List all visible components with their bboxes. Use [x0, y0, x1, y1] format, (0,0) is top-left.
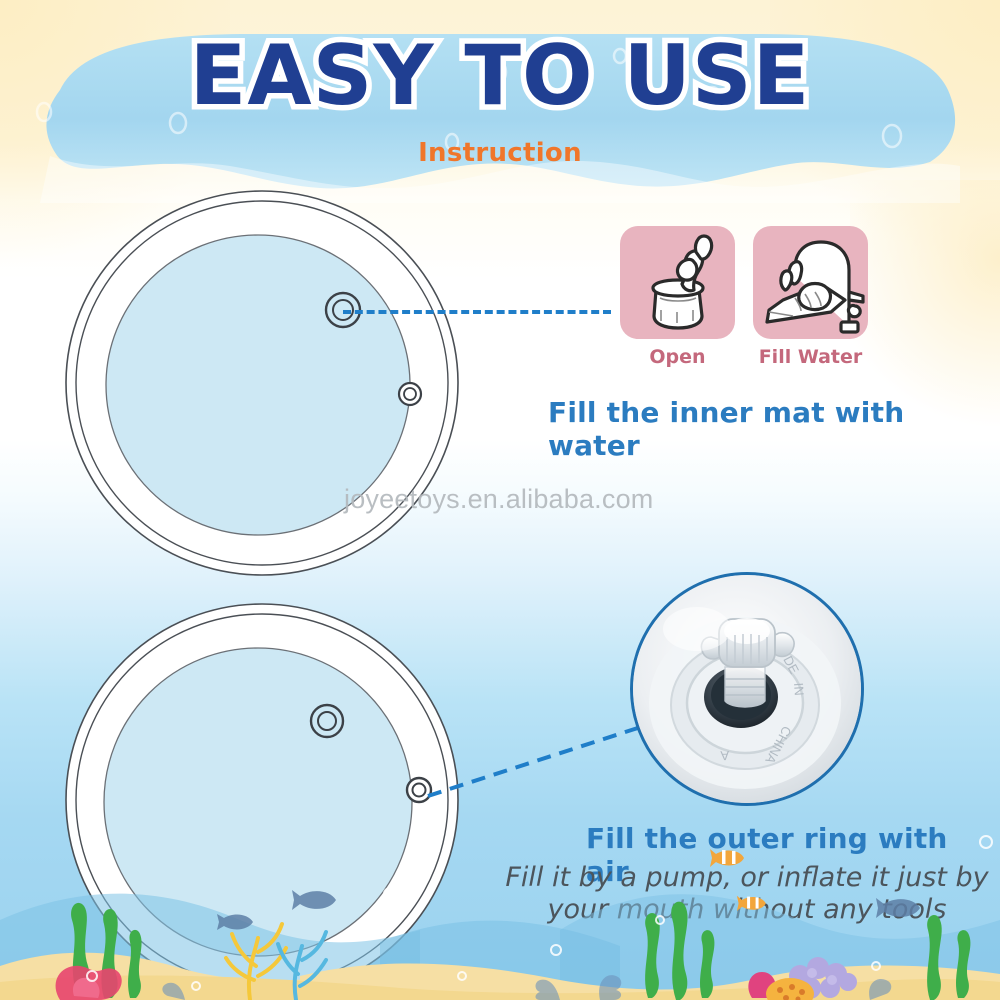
step-icon-cards: Open	[620, 226, 868, 368]
water-valve-marker	[311, 705, 343, 737]
infographic-canvas: EASY TO USE Instruction	[0, 0, 1000, 1000]
svg-text:IN: IN	[791, 682, 807, 696]
caption-fill-water: Fill the inner mat with water	[548, 396, 1000, 462]
seabed-scene	[0, 770, 1000, 1000]
card-open[interactable]: Open	[620, 226, 735, 368]
card-fill-water[interactable]: Fill Water	[753, 226, 868, 368]
connector-line-water	[343, 310, 611, 314]
svg-text:A: A	[720, 748, 730, 763]
wave-banner	[0, 28, 1000, 203]
air-valve-marker	[399, 383, 421, 405]
fish	[217, 890, 920, 930]
card-fill-water-label: Fill Water	[753, 346, 868, 368]
page-subtitle: Instruction	[0, 138, 1000, 168]
card-open-label: Open	[620, 346, 735, 368]
product-illustration-top	[62, 188, 462, 578]
watermark: joyeetoys.en.alibaba.com	[344, 484, 654, 515]
valve-open-icon	[620, 226, 735, 339]
faucet-fill-water-icon	[753, 226, 868, 339]
coral-red	[56, 966, 122, 1000]
card-open-box	[620, 226, 735, 339]
card-fill-water-box	[753, 226, 868, 339]
